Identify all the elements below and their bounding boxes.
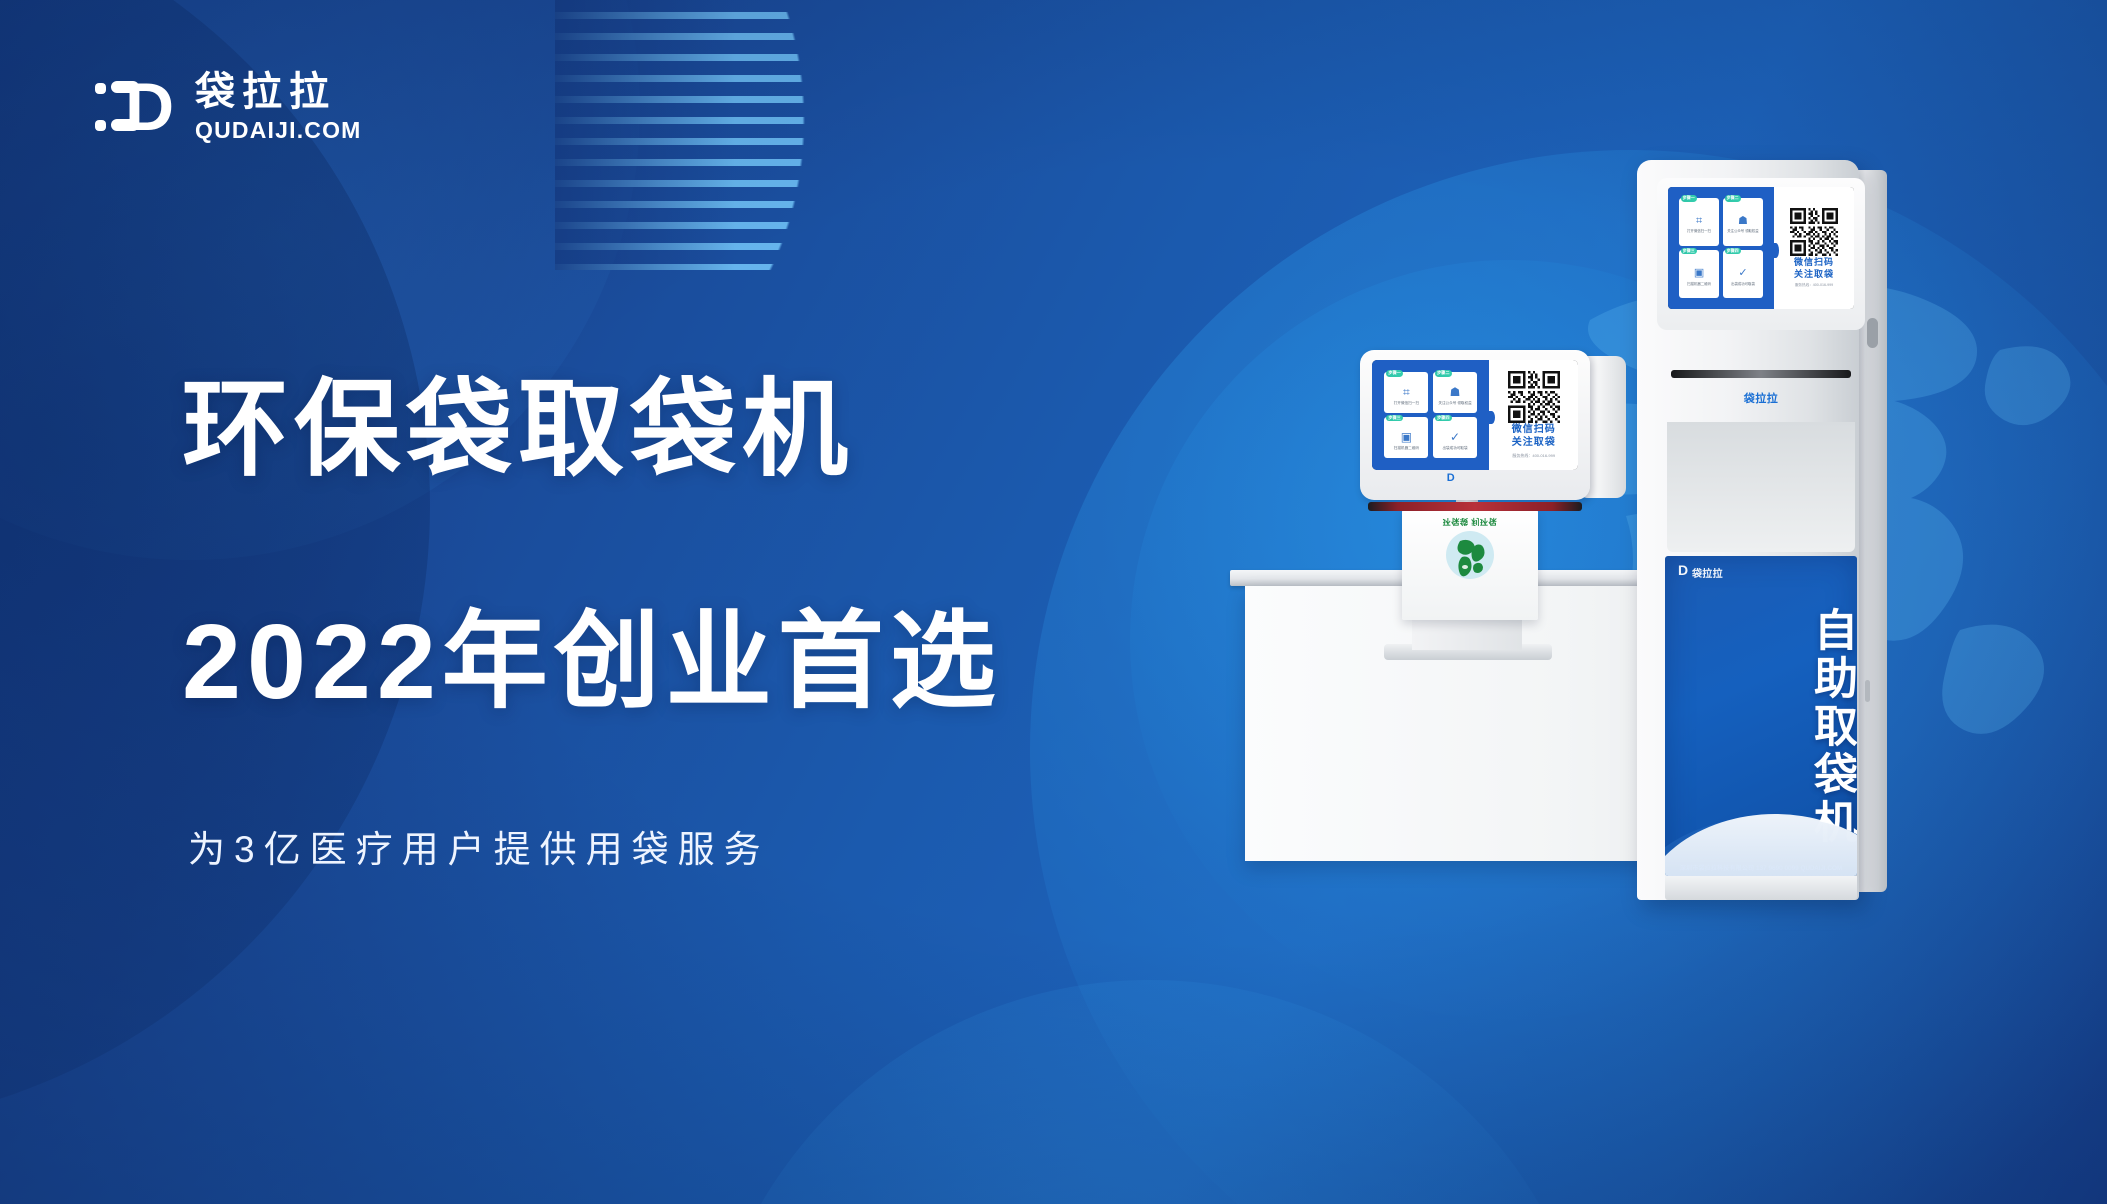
screen-step-card[interactable]: 步骤二 ☗ 关注公众号 领取权益	[1433, 372, 1477, 413]
screen-step-card[interactable]: 步骤三 ▣ 扫描机器二维码	[1384, 417, 1428, 458]
step-caption: 扫描机器二维码	[1687, 282, 1711, 286]
step-caption: 打开微信扫一扫	[1687, 229, 1711, 233]
screen-qr-panel: 微信扫码 关注取袋 服务热线：400-016-999	[1489, 360, 1578, 470]
wechat-scan-line2: 关注取袋	[1794, 268, 1834, 280]
wechat-scan-line2: 关注取袋	[1512, 436, 1556, 449]
tower-base	[1665, 876, 1857, 900]
brand-mark-letter: D	[125, 76, 172, 138]
headline-line-2: 2022年创业首选	[182, 602, 1002, 722]
screen-step-card[interactable]: 步骤一 ⌗ 打开微信扫一扫	[1384, 372, 1428, 413]
screen-steps-panel: 步骤一 ⌗ 打开微信扫一扫 步骤二 ☗ 关注公众号 领取权益 步骤三 ▣	[1372, 360, 1489, 470]
step-badge: 步骤二	[1725, 195, 1741, 201]
tower-panel-footer-text: 深圳市袋拉拉科技有限公司 137 9690 0099 QUDAIJI.COM	[1665, 863, 1857, 872]
wechat-scan-line1: 微信扫码	[1512, 423, 1556, 436]
step-caption: 关注公众号 领取权益	[1438, 401, 1471, 405]
screen-step-card[interactable]: 步骤一 ⌗ 打开微信扫一扫	[1679, 198, 1719, 245]
qrcode-small-icon: ▣	[1401, 431, 1412, 443]
step-caption: 出袋成功可取袋	[1442, 446, 1467, 450]
countertop-kiosk-logo: D	[1360, 472, 1542, 484]
step-badge: 步骤三	[1386, 415, 1403, 422]
brand-logo: D 袋拉拉 QUDAIJI.COM	[95, 70, 362, 143]
step-badge: 步骤三	[1681, 248, 1697, 254]
screen-notch	[1488, 411, 1495, 424]
screen-step-card[interactable]: 步骤四 ✓ 出袋成功可取袋	[1723, 250, 1763, 297]
step-caption: 打开微信扫一扫	[1394, 401, 1419, 405]
tower-body-logo: 袋拉拉	[1671, 390, 1851, 406]
tower-pickup-cavity	[1667, 422, 1855, 552]
brand-name-en: QUDAIJI.COM	[195, 117, 362, 143]
screen-step-card[interactable]: 步骤二 ☗ 关注公众号 领取权益	[1723, 198, 1763, 245]
step-caption: 出袋成功可取袋	[1731, 282, 1755, 286]
decor-circle-bottom	[700, 980, 1600, 1204]
step-caption: 关注公众号 领取权益	[1727, 229, 1758, 233]
countertop-kiosk: 环保袋 利环保 步骤一	[1360, 350, 1630, 600]
qrcode-small-icon: ▣	[1694, 268, 1704, 279]
scan-frame-icon: ⌗	[1403, 386, 1410, 398]
wechat-qr-code[interactable]	[1508, 371, 1560, 423]
headline-subtitle: 为3亿医疗用户提供用袋服务	[188, 826, 1002, 874]
headline-line-1: 环保袋取袋机	[182, 370, 1002, 490]
countertop-kiosk-dispense-slot	[1368, 502, 1582, 511]
bag-slogan: 环保袋 利环保	[1443, 516, 1497, 527]
green-globe-icon	[1446, 531, 1494, 579]
step-badge: 步骤一	[1386, 370, 1403, 377]
countertop-kiosk-screen[interactable]: 步骤一 ⌗ 打开微信扫一扫 步骤二 ☗ 关注公众号 领取权益 步骤三 ▣	[1372, 360, 1578, 470]
screen-step-card[interactable]: 步骤三 ▣ 扫描机器二维码	[1679, 250, 1719, 297]
brand-mark-icon: D	[95, 74, 175, 140]
headline-block: 环保袋取袋机 2022年创业首选 为3亿医疗用户提供用袋服务	[182, 370, 1002, 874]
dispensed-bag: 环保袋 利环保	[1402, 510, 1538, 620]
brand-name-cn: 袋拉拉	[195, 70, 362, 114]
wechat-follow-icon: ☗	[1738, 216, 1748, 227]
check-circle-icon: ✓	[1450, 431, 1460, 443]
service-hotline: 服务热线：400-016-999	[1795, 283, 1833, 288]
step-badge: 步骤四	[1725, 248, 1741, 254]
step-badge: 步骤四	[1435, 415, 1452, 422]
decor-striped-dome-fade	[555, 0, 805, 270]
decor-striped-dome	[555, 0, 805, 270]
wechat-qr-code[interactable]	[1790, 208, 1838, 256]
tower-kiosk-screen[interactable]: 步骤一 ⌗ 打开微信扫一扫 步骤二 ☗ 关注公众号 领取权益 步骤三 ▣	[1668, 187, 1854, 309]
scan-frame-icon: ⌗	[1696, 216, 1702, 227]
tower-card-reader-port[interactable]	[1867, 318, 1878, 348]
step-badge: 步骤一	[1681, 195, 1697, 201]
countertop-kiosk-head: 步骤一 ⌗ 打开微信扫一扫 步骤二 ☗ 关注公众号 领取权益 步骤三 ▣	[1360, 350, 1590, 500]
screen-qr-panel: 微信扫码 关注取袋 服务热线：400-016-999	[1774, 187, 1854, 309]
screen-steps-panel: 步骤一 ⌗ 打开微信扫一扫 步骤二 ☗ 关注公众号 领取权益 步骤三 ▣	[1668, 187, 1774, 309]
step-badge: 步骤二	[1435, 370, 1452, 377]
tower-panel-seam	[1865, 680, 1870, 702]
service-hotline: 服务热线：400-016-999	[1512, 453, 1555, 459]
promo-banner: D 袋拉拉 QUDAIJI.COM 环保袋取袋机 2022年创业首选 为3亿医疗…	[0, 0, 2107, 1204]
floor-standing-kiosk: 步骤一 ⌗ 打开微信扫一扫 步骤二 ☗ 关注公众号 领取权益 步骤三 ▣	[1615, 160, 1915, 900]
tower-brand-panel: 袋拉拉 自助取袋机 深圳市袋拉拉科技有限公司 137 9690 0099 QUD…	[1665, 556, 1857, 876]
tower-panel-logo-cn: 袋拉拉	[1692, 565, 1723, 580]
brand-mark-icon	[1675, 567, 1688, 578]
tower-main-body: 步骤一 ⌗ 打开微信扫一扫 步骤二 ☗ 关注公众号 领取权益 步骤三 ▣	[1637, 160, 1859, 900]
tower-dispense-slot	[1671, 370, 1851, 378]
wechat-scan-line1: 微信扫码	[1794, 256, 1834, 268]
product-scene: 环保袋 利环保 步骤一	[1190, 160, 2020, 960]
step-caption: 扫描机器二维码	[1394, 446, 1419, 450]
wechat-follow-icon: ☗	[1450, 386, 1461, 398]
tower-panel-logo: 袋拉拉	[1675, 565, 1723, 580]
screen-step-card[interactable]: 步骤四 ✓ 出袋成功可取袋	[1433, 417, 1477, 458]
check-circle-icon: ✓	[1738, 268, 1747, 279]
screen-notch	[1773, 243, 1779, 258]
